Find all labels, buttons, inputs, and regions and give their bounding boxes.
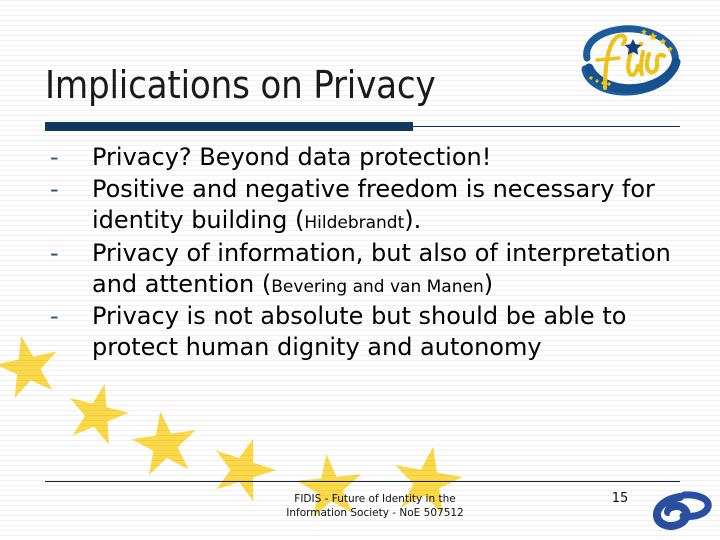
- citation-open-paren: (: [262, 270, 271, 298]
- citation-text: Hildebrandt: [304, 213, 404, 233]
- page-number: 15: [600, 491, 640, 506]
- footer-note: FIDIS - Future of Identity in the Inform…: [230, 492, 520, 520]
- citation-close-paren: ): [484, 270, 493, 298]
- bullet-dash-icon: -: [50, 238, 59, 269]
- list-item: - Privacy? Beyond data protection!: [45, 142, 695, 173]
- citation-text: Bevering and van Manen: [271, 277, 483, 297]
- footer-divider: [45, 481, 680, 482]
- list-item: - Positive and negative freedom is neces…: [45, 174, 695, 236]
- bullet-list: - Privacy? Beyond data protection! - Pos…: [45, 142, 695, 364]
- bullet-text: Privacy is not absolute but should be ab…: [92, 302, 626, 361]
- eu-fp6-logo: [650, 491, 712, 531]
- page-title: Implications on Privacy: [45, 66, 605, 106]
- bullet-text: Privacy? Beyond data protection!: [92, 143, 491, 171]
- slide-canvas: Implications on Privacy: [0, 0, 720, 540]
- citation-close-paren: ): [404, 206, 413, 234]
- citation-open-paren: (: [295, 206, 304, 234]
- bullet-dash-icon: -: [50, 301, 59, 332]
- fp6-six-counter: [670, 511, 679, 520]
- footer-line-2: Information Society - NoE 507512: [230, 506, 520, 520]
- title-rule-thick: [45, 122, 413, 131]
- list-item: - Privacy is not absolute but should be …: [45, 301, 695, 363]
- footer-line-1: FIDIS - Future of Identity in the: [230, 492, 520, 506]
- bullet-dash-icon: -: [50, 174, 59, 205]
- list-item: - Privacy of information, but also of in…: [45, 238, 695, 300]
- bullet-dash-icon: -: [50, 142, 59, 173]
- fidis-logo: [575, 22, 683, 100]
- bullet-tail: .: [414, 206, 422, 234]
